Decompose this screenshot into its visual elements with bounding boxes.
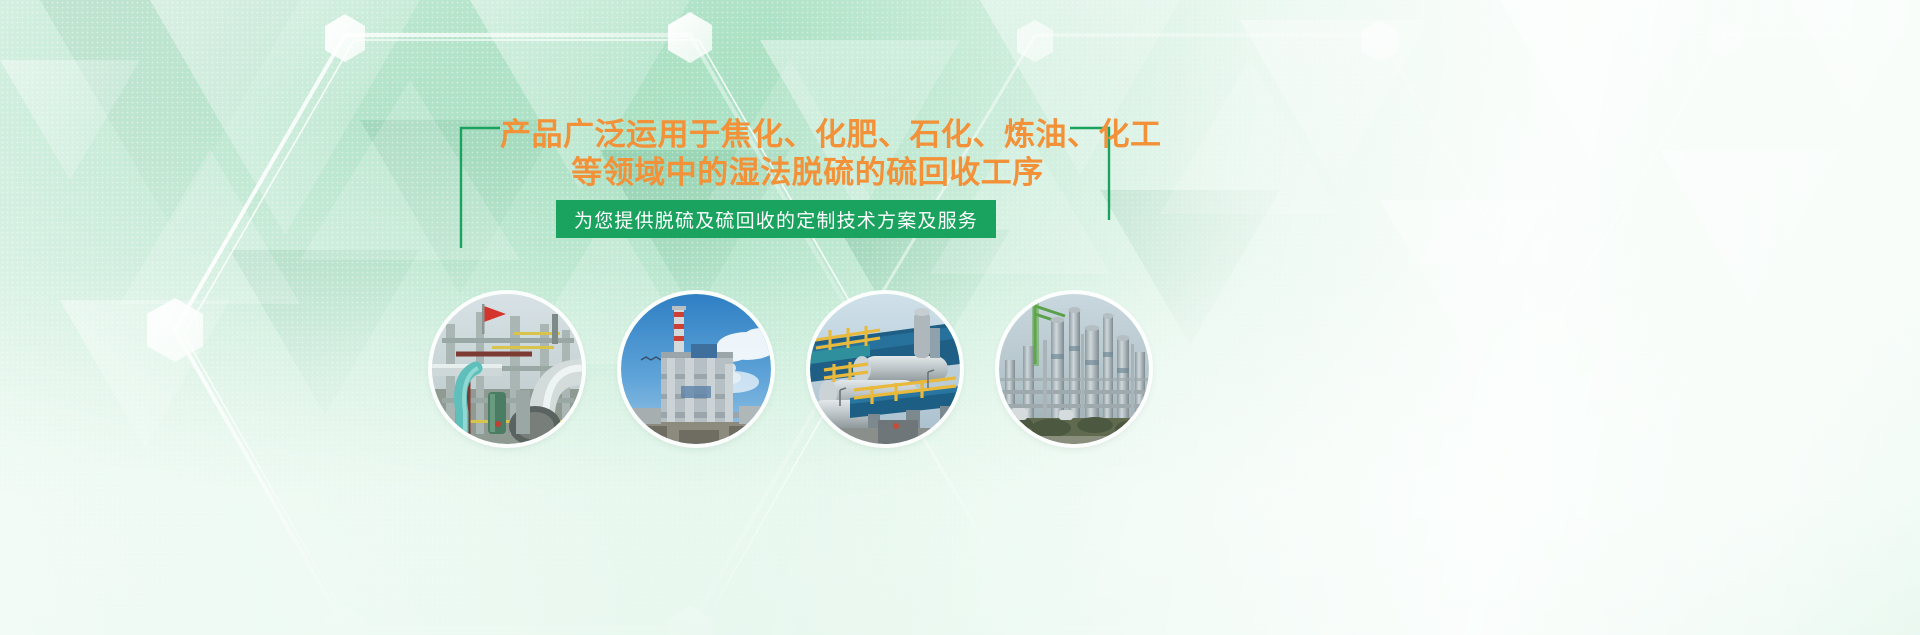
- headline-line-1: 产品广泛运用于焦化、化肥、石化、炼油、化工: [500, 117, 1162, 152]
- photo-4-graphic: [999, 294, 1149, 444]
- headline-text: 产品广泛运用于焦化、化肥、石化、炼油、化工 等领域中的湿法脱硫的硫回收工序: [500, 116, 1115, 192]
- hero-banner: 产品广泛运用于焦化、化肥、石化、炼油、化工 等领域中的湿法脱硫的硫回收工序 为您…: [0, 0, 1920, 635]
- subtitle-text: 为您提供脱硫及硫回收的定制技术方案及服务: [574, 206, 978, 233]
- subtitle-banner: 为您提供脱硫及硫回收的定制技术方案及服务: [556, 200, 996, 238]
- photo-1-graphic: [432, 294, 582, 444]
- photo-gallery: [432, 294, 1150, 444]
- photo-circle-1[interactable]: [432, 294, 582, 444]
- headline-line-2: 等领域中的湿法脱硫的硫回收工序: [500, 154, 1115, 192]
- photo-2-graphic: [621, 294, 771, 444]
- photo-circle-2[interactable]: [621, 294, 771, 444]
- photo-circle-3[interactable]: [810, 294, 960, 444]
- photo-3-graphic: [810, 294, 960, 444]
- photo-circle-4[interactable]: [999, 294, 1149, 444]
